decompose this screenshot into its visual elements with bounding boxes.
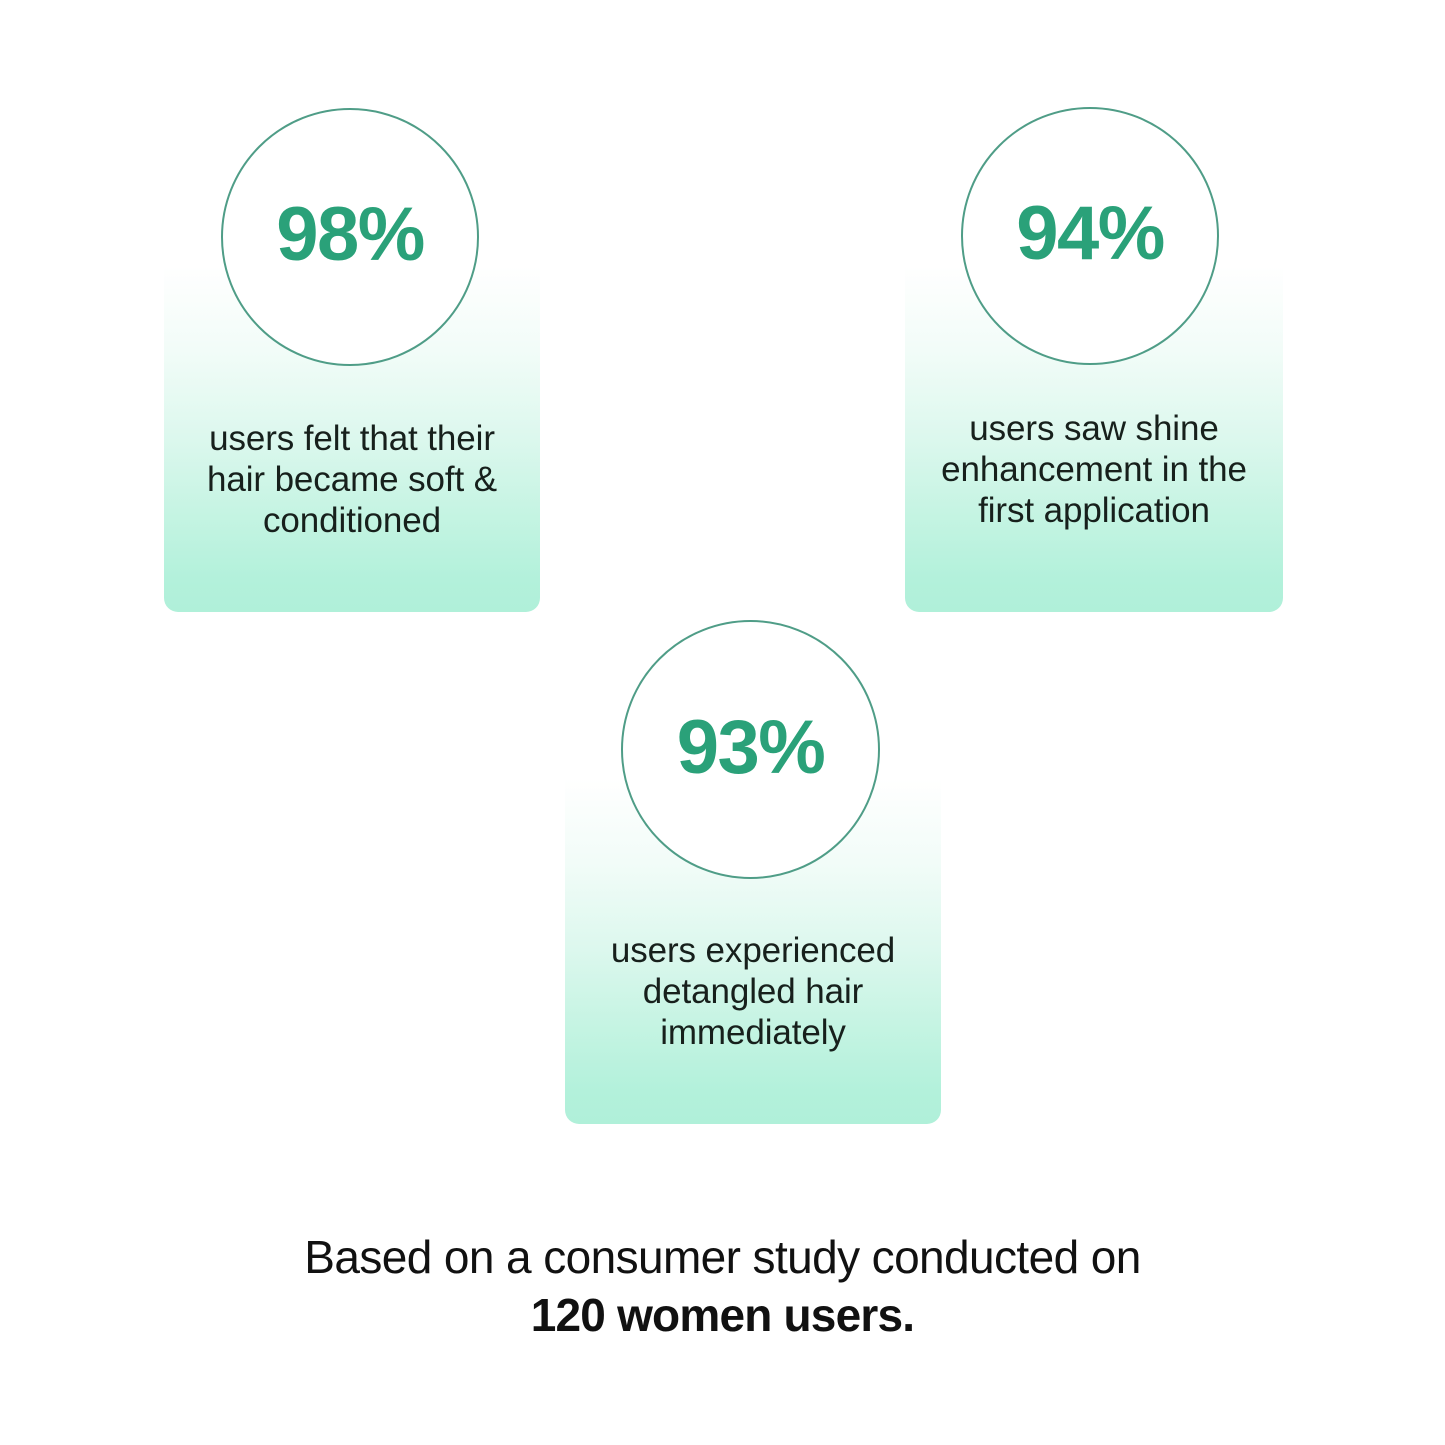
stat-caption-2: users saw shine enhancement in the first… [905, 408, 1283, 531]
percentage-value-2: 94% [1016, 196, 1164, 272]
percentage-circle-1: 98% [221, 108, 479, 366]
percentage-circle-2: 94% [961, 107, 1219, 365]
stat-caption-3: users experienced detangled hair immedia… [565, 930, 941, 1053]
stat-caption-1: users felt that their hair became soft &… [164, 418, 540, 541]
percentage-value-1: 98% [276, 197, 424, 273]
percentage-value-3: 93% [677, 710, 825, 786]
infographic-canvas: users felt that their hair became soft &… [0, 0, 1445, 1445]
footnote-line-2: 120 women users. [0, 1286, 1445, 1344]
footnote-line-1: Based on a consumer study conducted on [304, 1231, 1140, 1283]
percentage-circle-3: 93% [621, 620, 880, 879]
study-footnote: Based on a consumer study conducted on 1… [0, 1228, 1445, 1344]
